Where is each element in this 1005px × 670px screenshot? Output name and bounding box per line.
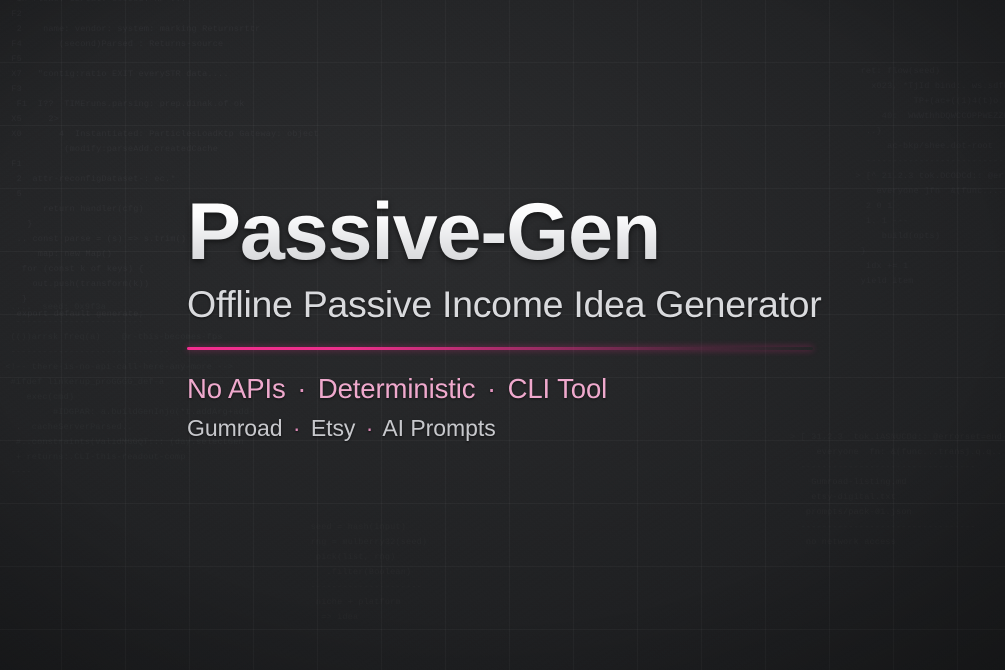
tagline-separator-icon: · xyxy=(483,373,500,404)
platform-separator-icon: · xyxy=(362,415,378,441)
tagline-separator-icon: · xyxy=(293,373,310,404)
poster-canvas: in flows: GDPCat: Gooses: R/ ... F2 2 na… xyxy=(0,0,1005,670)
platform-item: Etsy xyxy=(311,415,356,441)
tagline-item: CLI Tool xyxy=(508,373,608,404)
platform-item: Gumroad xyxy=(187,415,283,441)
page-title: Passive-Gen xyxy=(187,192,947,273)
platform-list: Gumroad · Etsy · AI Prompts xyxy=(187,416,947,441)
platform-separator-icon: · xyxy=(289,415,305,441)
tagline-item: Deterministic xyxy=(318,373,476,404)
tagline-item: No APIs xyxy=(187,373,286,404)
accent-divider xyxy=(187,347,813,350)
page-subtitle: Offline Passive Income Idea Generator xyxy=(187,285,947,325)
feature-tagline: No APIs · Deterministic · CLI Tool xyxy=(187,374,947,404)
platform-item: AI Prompts xyxy=(382,415,495,441)
hero-content: Passive-Gen Offline Passive Income Idea … xyxy=(187,192,947,441)
